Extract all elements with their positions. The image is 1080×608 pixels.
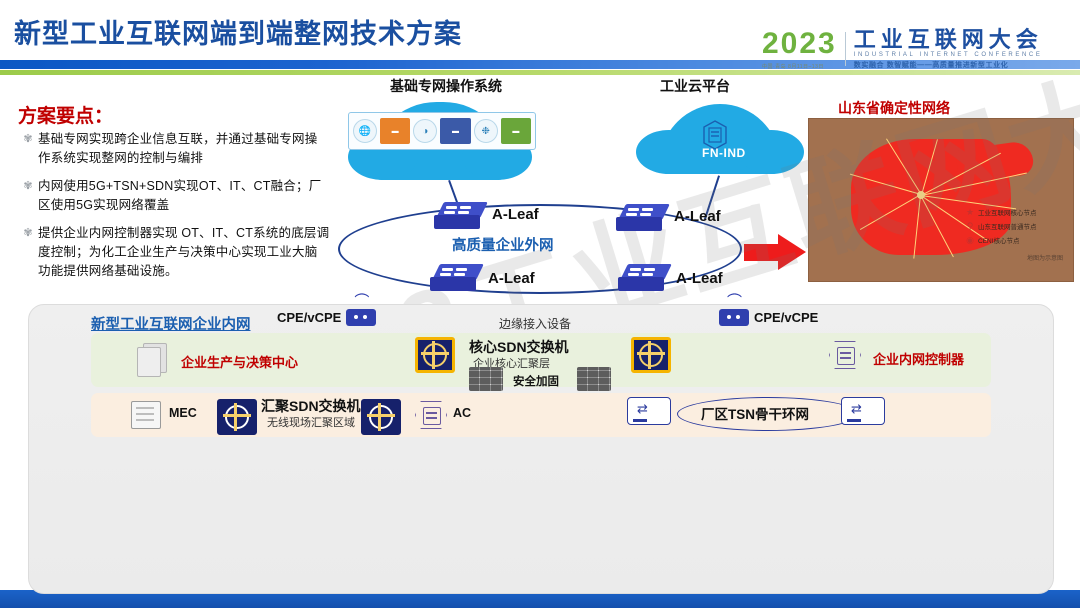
a-leaf-label: A-Leaf bbox=[676, 270, 723, 287]
a-leaf-label: A-Leaf bbox=[488, 270, 535, 287]
fn-ind-label: FN-IND bbox=[702, 146, 746, 160]
tsn-backbone-switch-icon: ⇄ bbox=[627, 397, 671, 425]
core-node-marker bbox=[917, 191, 925, 199]
list-item: ✾ 提供企业内网控制器实现 OT、IT、CT系统的底层调度控制；为化工企业生产与… bbox=[18, 224, 330, 281]
decision-center-server-icon bbox=[137, 343, 171, 375]
point-text: 内网使用5G+TSN+SDN实现OT、IT、CT融合；厂区使用5G实现网络覆盖 bbox=[38, 177, 330, 215]
conference-name-en: INDUSTRIAL INTERNET CONFERENCE bbox=[854, 52, 1043, 58]
legend-label: 山东互联网普通节点 bbox=[978, 221, 1037, 231]
core-sdn-switch-icon bbox=[415, 337, 455, 373]
conference-date: 中国·青岛 8月11日–13日 bbox=[762, 63, 837, 70]
security-label: 安全加固 bbox=[513, 373, 559, 389]
os-toolbar: 🌐 ▬ ◑ ▬ ❉ ▬ bbox=[348, 112, 536, 150]
bullet-icon: ✾ bbox=[18, 130, 38, 168]
cpe-router-icon: ⌒ bbox=[719, 309, 749, 326]
ac-controller-icon bbox=[415, 401, 447, 429]
tsn-backbone-switch-icon: ⇄ bbox=[841, 397, 885, 425]
points-title: 方案要点： bbox=[18, 101, 113, 128]
map-legend: ★ 工业互联网核心节点 ⚲ 山东互联网普通节点 ◉ CENI核心节点 地图为示意… bbox=[965, 207, 1069, 262]
globe-icon: 🌐 bbox=[353, 119, 377, 143]
a-leaf-switch bbox=[616, 204, 668, 234]
points-list: ✾ 基础专网实现跨企业信息互联，并通过基础专网操作系统实现整网的控制与编排 ✾ … bbox=[18, 130, 330, 290]
legend-item: ◉ CENI核心节点 bbox=[965, 235, 1069, 245]
page-title: 新型工业互联网端到端整网技术方案 bbox=[14, 12, 462, 51]
network-icon: ❉ bbox=[474, 119, 498, 143]
slide-root: 新型工业互联网端到端整网技术方案 2023 中国·青岛 8月11日–13日 工业… bbox=[0, 0, 1080, 608]
circle-icon: ◉ bbox=[965, 235, 975, 245]
list-item: ✾ 基础专网实现跨企业信息互联，并通过基础专网操作系统实现整网的控制与编排 bbox=[18, 130, 330, 168]
cpe-left-label: CPE/vCPE bbox=[277, 310, 341, 325]
a-leaf-label: A-Leaf bbox=[492, 206, 539, 223]
map-note: 地图为示意图 bbox=[965, 253, 1069, 262]
legend-item: ★ 工业互联网核心节点 bbox=[965, 207, 1069, 217]
agg-sdn-switch-icon bbox=[217, 399, 257, 435]
bullet-icon: ✾ bbox=[18, 177, 38, 215]
antenna-icon: ⌒ bbox=[727, 294, 743, 309]
blue-panel: ▬ bbox=[440, 118, 470, 144]
red-arrow-icon bbox=[744, 234, 806, 270]
decision-center-label: 企业生产与决策中心 bbox=[181, 352, 298, 371]
agg-switch-title: 汇聚SDN交换机 bbox=[261, 396, 361, 416]
shandong-map: ★ 工业互联网核心节点 ⚲ 山东互联网普通节点 ◉ CENI核心节点 地图为示意… bbox=[808, 118, 1074, 282]
header-rule-green bbox=[0, 70, 1080, 75]
antenna-icon: ⌒ bbox=[354, 294, 370, 309]
controller-label: 企业内网控制器 bbox=[873, 349, 964, 368]
legend-item: ⚲ 山东互联网普通节点 bbox=[965, 221, 1069, 231]
core-sdn-switch-icon bbox=[631, 337, 671, 373]
map-title: 山东省确定性网络 bbox=[838, 98, 950, 118]
industrial-cloud-label: 工业云平台 bbox=[660, 76, 730, 96]
enterprise-intranet-panel: 新型工业互联网企业内网 CPE/vCPE ⌒ 边缘接入设备 ⌒ CPE/vCPE… bbox=[28, 304, 1054, 594]
a-leaf-switch bbox=[430, 264, 482, 294]
firewall-icon bbox=[469, 367, 503, 391]
list-item: ✾ 内网使用5G+TSN+SDN实现OT、IT、CT融合；厂区使用5G实现网络覆… bbox=[18, 177, 330, 215]
firewall-icon bbox=[577, 367, 611, 391]
a-leaf-switch bbox=[434, 202, 486, 232]
green-panel: ▬ bbox=[501, 118, 531, 144]
a-leaf-switch bbox=[618, 264, 670, 294]
ac-label: AC bbox=[453, 406, 471, 420]
ring-label: 高质量企业外网 bbox=[452, 234, 554, 255]
gauge-icon: ◑ bbox=[413, 119, 437, 143]
conference-logo: 2023 中国·青岛 8月11日–13日 工业互联网大会 INDUSTRIAL … bbox=[762, 28, 1043, 70]
legend-label: 工业互联网核心节点 bbox=[978, 207, 1037, 217]
cpe-left: CPE/vCPE ⌒ bbox=[277, 309, 376, 326]
point-text: 基础专网实现跨企业信息互联，并通过基础专网操作系统实现整网的控制与编排 bbox=[38, 130, 330, 168]
bullet-icon: ✾ bbox=[18, 224, 38, 281]
cpe-right-label: CPE/vCPE bbox=[754, 310, 818, 325]
edge-device-label: 边缘接入设备 bbox=[499, 315, 571, 332]
intranet-title: 新型工业互联网企业内网 bbox=[91, 313, 251, 334]
mec-label: MEC bbox=[169, 406, 197, 420]
point-text: 提供企业内网控制器实现 OT、IT、CT系统的底层调度控制；为化工企业生产与决策… bbox=[38, 224, 330, 281]
conference-year: 2023 bbox=[762, 29, 837, 59]
core-switch-title: 核心SDN交换机 bbox=[469, 337, 569, 357]
orange-panel: ▬ bbox=[380, 118, 410, 144]
tsn-backbone-label: 厂区TSN骨干环网 bbox=[701, 403, 809, 423]
star-icon: ★ bbox=[965, 207, 975, 217]
agg-sdn-switch-icon bbox=[361, 399, 401, 435]
legend-label: CENI核心节点 bbox=[978, 235, 1020, 245]
conference-tagline: 数实融合 数智赋能——高质量推进新型工业化 bbox=[854, 60, 1043, 70]
controller-icon bbox=[829, 341, 861, 369]
cpe-right: ⌒ CPE/vCPE bbox=[719, 309, 818, 326]
cpe-router-icon: ⌒ bbox=[346, 309, 376, 326]
mec-icon bbox=[131, 401, 161, 429]
logo-divider bbox=[845, 32, 846, 66]
a-leaf-label: A-Leaf bbox=[674, 208, 721, 225]
pin-icon: ⚲ bbox=[965, 221, 975, 231]
conference-name-cn: 工业互联网大会 bbox=[854, 28, 1043, 51]
agg-switch-sub: 无线现场汇聚区域 bbox=[267, 414, 355, 430]
os-cloud-label: 基础专网操作系统 bbox=[390, 76, 502, 96]
external-network-diagram: 基础专网操作系统 工业云平台 🌐 ▬ ◑ ▬ ❉ ▬ FN-IND 高质量企业外… bbox=[330, 76, 790, 308]
